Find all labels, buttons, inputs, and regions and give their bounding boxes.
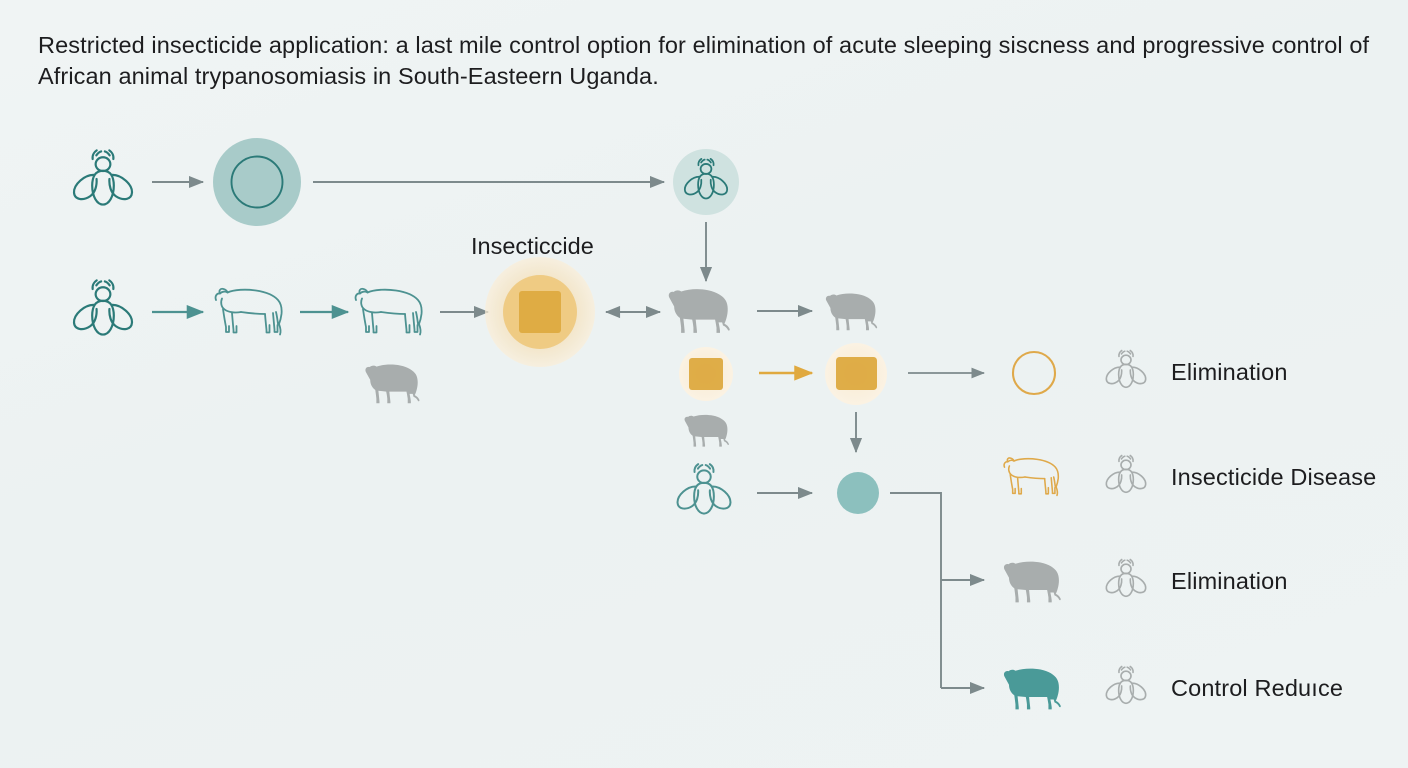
fly-source-middle: [74, 280, 132, 334]
legend-swatch-cow-amber-icon: [1004, 458, 1058, 495]
legend-label-4: Control Reduıce: [1171, 675, 1343, 702]
cow-gray-2: [826, 293, 877, 330]
branch-teal-dot-to-legend: [890, 493, 941, 688]
diagram-canvas: Insecticcide Elimination Insecticide Dis…: [0, 0, 1408, 768]
teal-dot-node: [837, 472, 879, 514]
diagram-page: Restricted insecticide application: a la…: [0, 0, 1408, 768]
insecticide-node: [485, 257, 595, 367]
legend-label-2: Insecticide Disease: [1171, 464, 1376, 491]
legend-fly-icon-3: [1106, 560, 1145, 597]
cow-gray-1: [669, 289, 730, 333]
legend-swatch-cow-teal-icon: [1004, 669, 1061, 710]
cow-teal-2: [356, 289, 422, 335]
legend-label-1: Elimination: [1171, 359, 1288, 386]
cow-gray-stray-1: [365, 365, 419, 404]
cow-gray-stray-2: [685, 415, 729, 447]
fly-in-circle: [673, 149, 739, 215]
amber-node-small: [679, 347, 733, 401]
legend-fly-icon-4: [1106, 667, 1145, 704]
legend-swatch-cow-gray-icon: [1004, 562, 1061, 603]
legend-fly-icon-1: [1106, 351, 1145, 388]
legend-label-3: Elimination: [1171, 568, 1288, 595]
teal-ring-node: [213, 138, 301, 226]
legend-swatch-circle-outline-icon: [1013, 352, 1055, 394]
cow-teal-1: [216, 289, 282, 335]
fly-source-top: [74, 150, 132, 204]
fly-source-bottom: [678, 464, 731, 513]
legend-fly-icon-2: [1106, 456, 1145, 493]
amber-node-large: [825, 343, 887, 405]
insecticide-label: Insecticcide: [471, 233, 594, 260]
